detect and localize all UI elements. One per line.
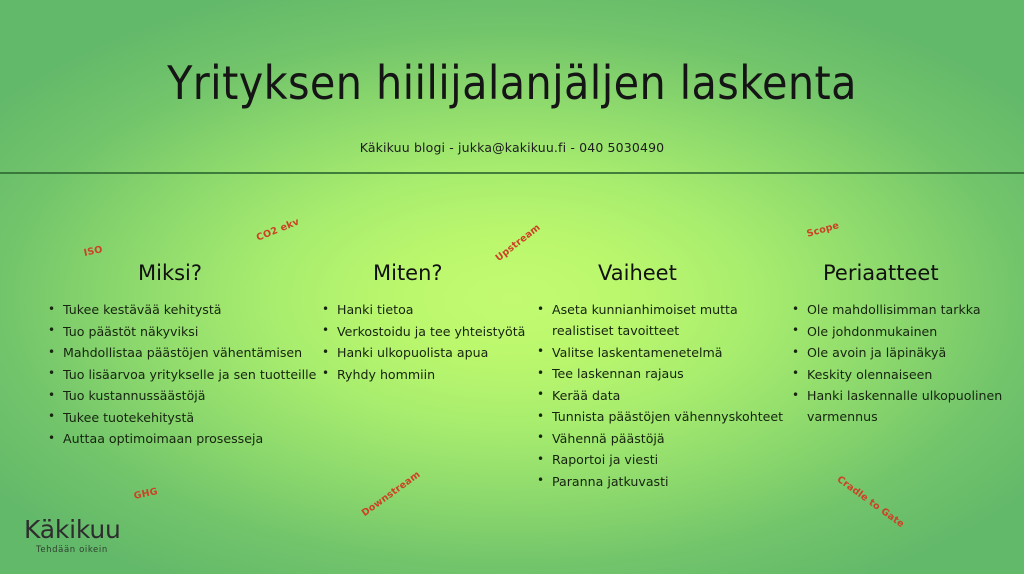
list-item: Tuo lisäarvoa yritykselle ja sen tuottei… bbox=[46, 364, 336, 385]
keyword-tag: Upstream bbox=[494, 222, 543, 264]
list-item: Mahdollistaa päästöjen vähentämisen bbox=[46, 342, 336, 363]
list-item: Keskity olennaiseen bbox=[790, 364, 1024, 385]
list-item: Hanki laskennalle ulkopuolinen varmennus bbox=[790, 385, 1024, 427]
list-item: Raportoi ja viesti bbox=[535, 449, 785, 470]
contact-subtitle: Käkikuu blogi - jukka@kakikuu.fi - 040 5… bbox=[0, 140, 1024, 155]
list-item: Tuo kustannussäästöjä bbox=[46, 385, 336, 406]
content-column: VaiheetAseta kunnianhimoiset mutta reali… bbox=[535, 262, 785, 492]
list-item: Paranna jatkuvasti bbox=[535, 471, 785, 492]
column-heading: Miksi? bbox=[46, 262, 336, 285]
content-column: Miksi?Tukee kestävää kehitystäTuo päästö… bbox=[46, 262, 336, 450]
logo-name: Käkikuu bbox=[24, 517, 224, 542]
page-title: Yrityksen hiilijalanjäljen laskenta bbox=[0, 56, 1024, 110]
column-bullet-list: Ole mahdollisimman tarkkaOle johdonmukai… bbox=[790, 299, 1024, 427]
column-bullet-list: Hanki tietoaVerkostoidu ja tee yhteistyö… bbox=[320, 299, 535, 385]
column-heading: Periaatteet bbox=[790, 262, 1024, 285]
list-item: Auttaa optimoimaan prosesseja bbox=[46, 428, 336, 449]
list-item: Ryhdy hommiin bbox=[320, 364, 535, 385]
list-item: Aseta kunnianhimoiset mutta realistiset … bbox=[535, 299, 785, 341]
logo-tagline: Tehdään oikein bbox=[24, 545, 224, 555]
keyword-tag: CO2 ekv bbox=[255, 216, 301, 243]
list-item: Tunnista päästöjen vähennyskohteet bbox=[535, 406, 785, 427]
list-item: Tee laskennan rajaus bbox=[535, 363, 785, 384]
list-item: Tuo päästöt näkyviksi bbox=[46, 321, 336, 342]
column-heading: Vaiheet bbox=[535, 262, 785, 285]
list-item: Tukee kestävää kehitystä bbox=[46, 299, 336, 320]
list-item: Ole avoin ja läpinäkyä bbox=[790, 342, 1024, 363]
list-item: Valitse laskentamenetelmä bbox=[535, 342, 785, 363]
column-bullet-list: Tukee kestävää kehitystäTuo päästöt näky… bbox=[46, 299, 336, 449]
list-item: Hanki tietoa bbox=[320, 299, 535, 320]
keyword-tag: ISO bbox=[83, 244, 104, 259]
brand-logo: Käkikuu Tehdään oikein bbox=[24, 517, 224, 555]
list-item: Ole mahdollisimman tarkka bbox=[790, 299, 1024, 320]
slide-header: Yrityksen hiilijalanjäljen laskenta Käki… bbox=[0, 0, 1024, 172]
content-column: Miten?Hanki tietoaVerkostoidu ja tee yht… bbox=[320, 262, 535, 385]
keyword-tag: Scope bbox=[805, 220, 840, 240]
list-item: Kerää data bbox=[535, 385, 785, 406]
list-item: Hanki ulkopuolista apua bbox=[320, 342, 535, 363]
list-item: Ole johdonmukainen bbox=[790, 321, 1024, 342]
list-item: Verkostoidu ja tee yhteistyötä bbox=[320, 321, 535, 342]
column-heading: Miten? bbox=[320, 262, 535, 285]
header-divider bbox=[0, 172, 1024, 174]
slide-canvas: Yrityksen hiilijalanjäljen laskenta Käki… bbox=[0, 0, 1024, 574]
column-bullet-list: Aseta kunnianhimoiset mutta realistiset … bbox=[535, 299, 785, 492]
content-column: PeriaatteetOle mahdollisimman tarkkaOle … bbox=[790, 262, 1024, 428]
list-item: Vähennä päästöjä bbox=[535, 428, 785, 449]
list-item: Tukee tuotekehitystä bbox=[46, 407, 336, 428]
